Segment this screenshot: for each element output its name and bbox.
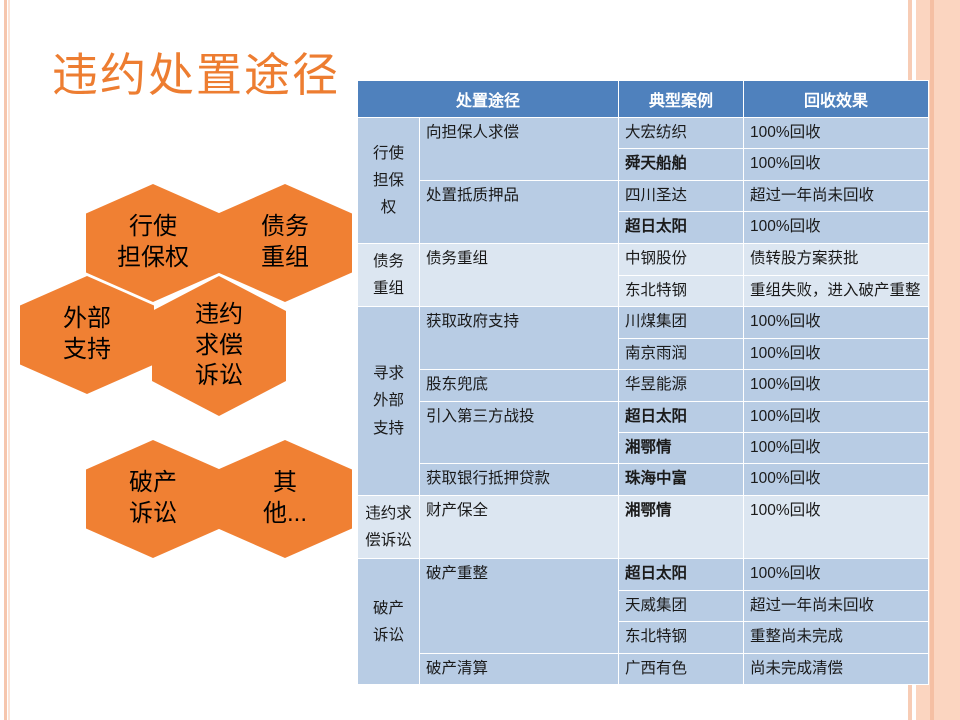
table-row: 股东兜底华昱能源100%回收: [358, 370, 929, 401]
cell-method: 债务重组: [420, 243, 619, 306]
cell-effect: 100%回收: [744, 495, 929, 558]
cell-method: 获取政府支持: [420, 307, 619, 370]
cell-category: 寻求外部支持: [358, 307, 420, 496]
hexagon-cluster: 行使 担保权 债务 重组 外部 支持 违约 求偿 诉讼 破产 诉讼 其 他...: [0, 180, 350, 540]
cell-case: 超日太阳: [619, 401, 744, 432]
hexagon-default-litigation[interactable]: 违约 求偿 诉讼: [152, 276, 286, 416]
table-row: 获取银行抵押贷款珠海中富100%回收: [358, 464, 929, 495]
hexagon-label-line1: 其: [263, 468, 307, 499]
cell-method: 股东兜底: [420, 370, 619, 401]
page-title: 违约处置途径: [52, 52, 340, 98]
cell-effect: 尚未完成清偿: [744, 653, 929, 684]
hexagon-label-line1: 违约: [195, 300, 243, 331]
column-header-effect: 回收效果: [744, 81, 929, 118]
hexagon-label-line2: 重组: [261, 243, 309, 274]
table-row: 违约求偿诉讼财产保全湘鄂情100%回收: [358, 495, 929, 558]
hexagon-label-line2: 支持: [63, 335, 111, 366]
cell-method: 获取银行抵押贷款: [420, 464, 619, 495]
hexagon-label-line2: 求偿: [195, 331, 243, 362]
hexagon-label-line1: 外部: [63, 304, 111, 335]
cell-case: 东北特钢: [619, 622, 744, 653]
cell-effect: 债转股方案获批: [744, 243, 929, 275]
cell-method: 破产清算: [420, 653, 619, 684]
cell-case: 超日太阳: [619, 559, 744, 590]
cell-case: 南京雨润: [619, 338, 744, 369]
hexagon-label-line1: 破产: [129, 468, 177, 499]
table-row: 破产清算广西有色尚未完成清偿: [358, 653, 929, 684]
hexagon-label-line1: 行使: [117, 212, 189, 243]
cell-effect: 100%回收: [744, 338, 929, 369]
cell-case: 舜天船舶: [619, 149, 744, 180]
cell-effect: 100%回收: [744, 559, 929, 590]
table-row: 债务重组债务重组中钢股份债转股方案获批: [358, 243, 929, 275]
cell-category: 破产诉讼: [358, 559, 420, 685]
cell-effect: 超过一年尚未回收: [744, 180, 929, 211]
cell-case: 华昱能源: [619, 370, 744, 401]
cell-case: 湘鄂情: [619, 495, 744, 558]
cell-effect: 重整尚未完成: [744, 622, 929, 653]
table-row: 引入第三方战投超日太阳100%回收: [358, 401, 929, 432]
cell-category: 行使担保权: [358, 118, 420, 244]
cell-effect: 100%回收: [744, 149, 929, 180]
cell-case: 大宏纺织: [619, 118, 744, 149]
hexagon-debt-restructuring[interactable]: 债务 重组: [218, 184, 352, 302]
cell-case: 珠海中富: [619, 464, 744, 495]
cell-effect: 超过一年尚未回收: [744, 590, 929, 621]
hexagon-label-line3: 诉讼: [195, 361, 243, 392]
cell-method: 处置抵质押品: [420, 180, 619, 243]
disposal-path-table: 处置途径 典型案例 回收效果 行使担保权向担保人求偿大宏纺织100%回收舜天船舶…: [357, 80, 929, 685]
cell-method: 财产保全: [420, 495, 619, 558]
cell-category: 违约求偿诉讼: [358, 495, 420, 558]
hexagon-exercise-guarantee[interactable]: 行使 担保权: [86, 184, 220, 302]
hexagon-external-support[interactable]: 外部 支持: [20, 276, 154, 394]
cell-effect: 100%回收: [744, 370, 929, 401]
cell-effect: 100%回收: [744, 307, 929, 338]
cell-case: 天威集团: [619, 590, 744, 621]
cell-effect: 重组失败，进入破产重整: [744, 275, 929, 307]
cell-case: 超日太阳: [619, 212, 744, 243]
table-row: 破产诉讼破产重整超日太阳100%回收: [358, 559, 929, 590]
hexagon-others[interactable]: 其 他...: [218, 440, 352, 558]
table-row: 寻求外部支持获取政府支持川煤集团100%回收: [358, 307, 929, 338]
right-edge-stripe-3: [930, 0, 934, 720]
hexagon-label-line2: 担保权: [117, 243, 189, 274]
cell-effect: 100%回收: [744, 212, 929, 243]
cell-case: 中钢股份: [619, 243, 744, 275]
cell-effect: 100%回收: [744, 433, 929, 464]
cell-method: 向担保人求偿: [420, 118, 619, 181]
cell-case: 广西有色: [619, 653, 744, 684]
column-header-method: 处置途径: [358, 81, 619, 118]
cell-case: 东北特钢: [619, 275, 744, 307]
hexagon-label-line2: 诉讼: [129, 499, 177, 530]
cell-method: 引入第三方战投: [420, 401, 619, 464]
cell-case: 川煤集团: [619, 307, 744, 338]
hexagon-label-line2: 他...: [263, 499, 307, 530]
cell-case: 四川圣达: [619, 180, 744, 211]
cell-case: 湘鄂情: [619, 433, 744, 464]
cell-effect: 100%回收: [744, 464, 929, 495]
column-header-case: 典型案例: [619, 81, 744, 118]
hexagon-label-line1: 债务: [261, 212, 309, 243]
hexagon-bankruptcy-litigation[interactable]: 破产 诉讼: [86, 440, 220, 558]
table-body: 行使担保权向担保人求偿大宏纺织100%回收舜天船舶100%回收处置抵质押品四川圣…: [358, 118, 929, 685]
cell-category: 债务重组: [358, 243, 420, 306]
table-header-row: 处置途径 典型案例 回收效果: [358, 81, 929, 118]
cell-effect: 100%回收: [744, 118, 929, 149]
cell-effect: 100%回收: [744, 401, 929, 432]
table-row: 处置抵质押品四川圣达超过一年尚未回收: [358, 180, 929, 211]
right-edge-stripe-4: [934, 0, 960, 720]
cell-method: 破产重整: [420, 559, 619, 653]
table-row: 行使担保权向担保人求偿大宏纺织100%回收: [358, 118, 929, 149]
